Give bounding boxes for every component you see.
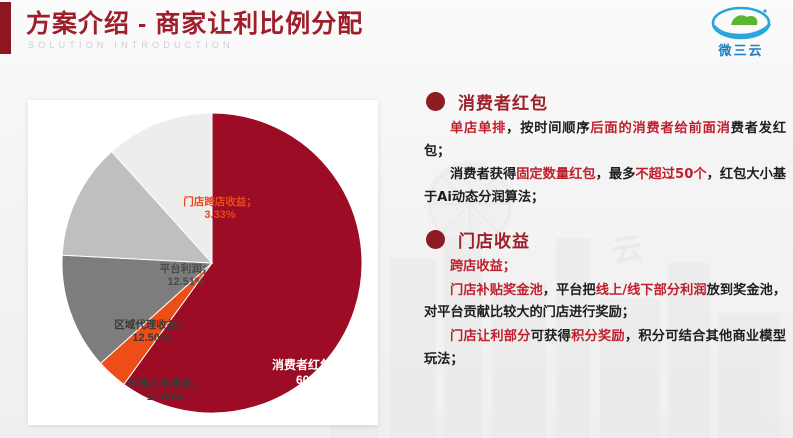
highlight-text: 单店单排: [450, 121, 506, 136]
section-body-1: 跨店收益；门店补贴奖金池，平台把线上/线下部分利润放到奖金池，对平台贡献比较大的…: [424, 256, 786, 372]
pie-chart-svg[interactable]: [28, 100, 378, 425]
section-store-revenue: 门店收益 跨店收益；门店补贴奖金池，平台把线上/线下部分利润放到奖金池，对平台贡…: [424, 226, 786, 372]
highlight-text: 积分奖励: [571, 329, 625, 344]
highlight-text: 门店让利部分: [450, 329, 531, 344]
highlight-text: 门店补贴奖金池: [450, 283, 543, 298]
content-panel: 消费者红包 单店单排，按时间顺序后面的消费者给前面消费者发红包；消费者获得固定数…: [424, 88, 786, 433]
body-text: 消费者获得: [450, 167, 516, 182]
brand-logo: 微三云: [703, 6, 779, 62]
highlight-text: 不超过50个: [635, 167, 706, 182]
body-text: ，: [707, 167, 720, 182]
page-title: 方案介绍 - 商家让利比例分配: [26, 4, 363, 40]
body-text: ，平台把: [543, 283, 596, 298]
section-title: 门店收益: [458, 227, 530, 252]
section-consumer-redpacket: 消费者红包 单店单排，按时间顺序后面的消费者给前面消费者发红包；消费者获得固定数…: [424, 88, 786, 210]
highlight-text: 固定数量红包: [516, 167, 595, 182]
bullet-icon: [426, 230, 445, 249]
body-text: 可获得: [531, 329, 571, 344]
cloud-swoosh-icon: [709, 6, 773, 40]
page-subtitle: SOLUTION INTRODUCTION: [28, 40, 234, 50]
section-body-0: 单店单排，按时间顺序后面的消费者给前面消费者发红包；消费者获得固定数量红包，最多…: [424, 118, 786, 210]
paragraph: 门店补贴奖金池，平台把线上/线下部分利润放到奖金池，对平台贡献比较大的门店进行奖…: [424, 280, 786, 325]
highlight-text: 后面的消费者给前面消: [590, 121, 730, 136]
highlight-text: 跨店收益；: [450, 259, 516, 274]
logo-text: 微三云: [703, 40, 779, 59]
paragraph: 单店单排，按时间顺序后面的消费者给前面消费者发红包；: [424, 118, 786, 163]
paragraph: 门店让利部分可获得积分奖励，积分可结合其他商业模型玩法；: [424, 326, 786, 371]
header-accent-bar: [0, 2, 11, 54]
pie-chart[interactable]: 门店跨店收益； 3.33% 平台利润； 12.51% 区域代理收益； 12.50…: [28, 100, 378, 425]
paragraph: 跨店收益；: [424, 256, 786, 279]
bullet-icon: [426, 92, 445, 111]
paragraph: 消费者获得固定数量红包，最多不超过50个，红包大小基于Ai动态分润算法；: [424, 164, 786, 209]
chart-card: 门店跨店收益； 3.33% 平台利润； 12.51% 区域代理收益； 12.50…: [28, 100, 378, 425]
section-title: 消费者红包: [458, 89, 548, 114]
section-header: 门店收益: [424, 226, 786, 256]
section-header: 消费者红包: [424, 88, 786, 118]
body-text: ，最多: [596, 167, 636, 182]
body-text: ，按时间顺序: [506, 121, 590, 136]
highlight-text: 线上/线下部分利润: [596, 283, 707, 298]
slide-header: 方案介绍 - 商家让利比例分配 SOLUTION INTRODUCTION: [0, 0, 793, 66]
